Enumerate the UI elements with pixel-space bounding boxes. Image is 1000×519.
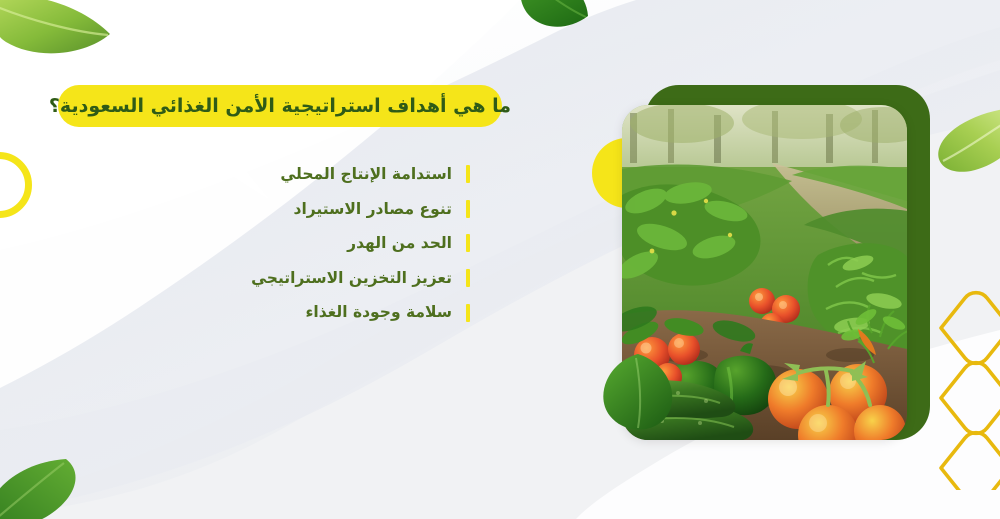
list-item-label: تعزيز التخزين الاستراتيجي xyxy=(251,269,452,288)
ring-outline-icon xyxy=(0,152,32,218)
page-title-pill: ما هي أهداف استراتيجية الأمن الغذائي الس… xyxy=(58,85,502,127)
infographic-canvas: ما هي أهداف استراتيجية الأمن الغذائي الس… xyxy=(0,0,1000,519)
bullet-marker-icon xyxy=(466,234,470,252)
bullet-marker-icon xyxy=(466,269,470,287)
bullet-marker-icon xyxy=(466,304,470,322)
list-item: سلامة وجودة الغذاء xyxy=(120,303,470,322)
leaf-icon xyxy=(518,0,590,44)
list-item: استدامة الإنتاج المحلي xyxy=(120,165,470,184)
bullet-marker-icon xyxy=(466,165,470,183)
list-item-label: تنوع مصادر الاستيراد xyxy=(294,200,452,219)
list-item: تنوع مصادر الاستيراد xyxy=(120,200,470,219)
leaf-icon xyxy=(0,0,122,69)
page-title: ما هي أهداف استراتيجية الأمن الغذائي الس… xyxy=(49,97,511,116)
goals-list: استدامة الإنتاج المحلي تنوع مصادر الاستي… xyxy=(120,165,470,322)
farm-photo xyxy=(622,105,907,440)
leaf-icon xyxy=(0,455,90,519)
list-item-label: سلامة وجودة الغذاء xyxy=(305,303,452,322)
chevron-outline-icon xyxy=(935,282,1000,490)
list-item: تعزيز التخزين الاستراتيجي xyxy=(120,269,470,288)
list-item: الحد من الهدر xyxy=(120,234,470,253)
list-item-label: استدامة الإنتاج المحلي xyxy=(280,165,452,184)
list-item-label: الحد من الهدر xyxy=(347,234,452,253)
leaf-icon xyxy=(935,105,1000,175)
bullet-marker-icon xyxy=(466,200,470,218)
